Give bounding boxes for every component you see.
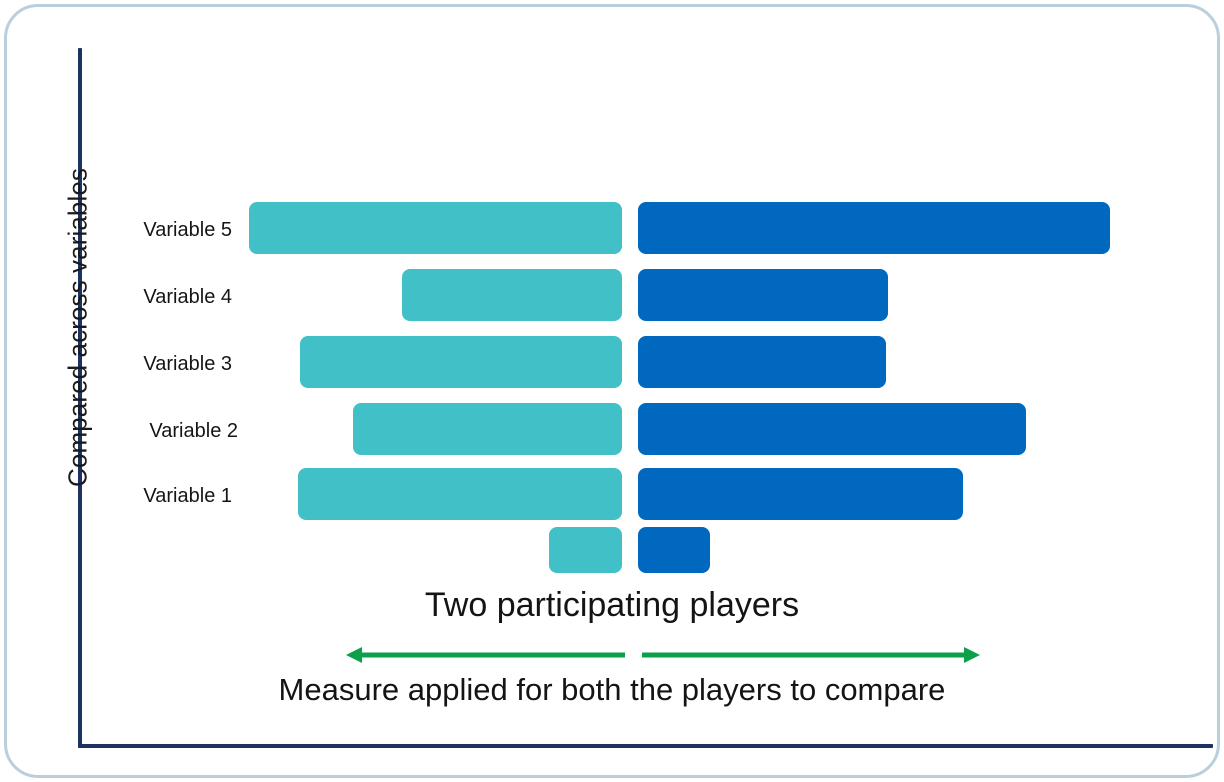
measure-arrows — [330, 638, 1000, 672]
x-axis-line — [78, 744, 1213, 748]
bar-left — [402, 269, 622, 321]
row-label: Variable 1 — [143, 468, 232, 524]
bar-right — [638, 202, 1110, 254]
row-label-wrap: Variable 5 — [96, 202, 232, 258]
measure-arrows-svg — [330, 638, 1000, 672]
bar-row: Variable 1 — [0, 468, 1224, 524]
row-label-wrap: Variable 1 — [96, 468, 232, 524]
row-label: Variable 2 — [149, 403, 238, 459]
bar-right — [638, 403, 1026, 455]
bar-row: Variable 2 — [0, 403, 1224, 459]
bar-row: Variable 3 — [0, 336, 1224, 392]
bar-right — [638, 336, 886, 388]
bar-left — [298, 468, 622, 520]
y-axis-title: Compared across variables — [63, 138, 94, 518]
bar-row: Variable 5 — [0, 202, 1224, 258]
row-label: Variable 5 — [143, 202, 232, 258]
x-axis-title: Two participating players — [0, 586, 1224, 625]
bar-left — [249, 202, 622, 254]
row-label: Variable 3 — [143, 336, 232, 392]
row-label-wrap: Variable 2 — [102, 403, 238, 459]
measure-caption: Measure applied for both the players to … — [0, 672, 1224, 708]
bar-right — [638, 269, 888, 321]
bar-row — [0, 527, 1224, 573]
row-label-wrap: Variable 3 — [96, 336, 232, 392]
left-arrow-icon — [346, 647, 625, 663]
row-label-wrap: Variable 4 — [96, 269, 232, 325]
row-label: Variable 4 — [143, 269, 232, 325]
bar-row: Variable 4 — [0, 269, 1224, 325]
bar-left — [300, 336, 622, 388]
right-arrow-icon — [642, 647, 980, 663]
chart-figure: Compared across variables Variable 5 Var… — [0, 0, 1224, 782]
bar-left — [549, 527, 622, 573]
bar-right — [638, 527, 710, 573]
bar-left — [353, 403, 622, 455]
bar-right — [638, 468, 963, 520]
